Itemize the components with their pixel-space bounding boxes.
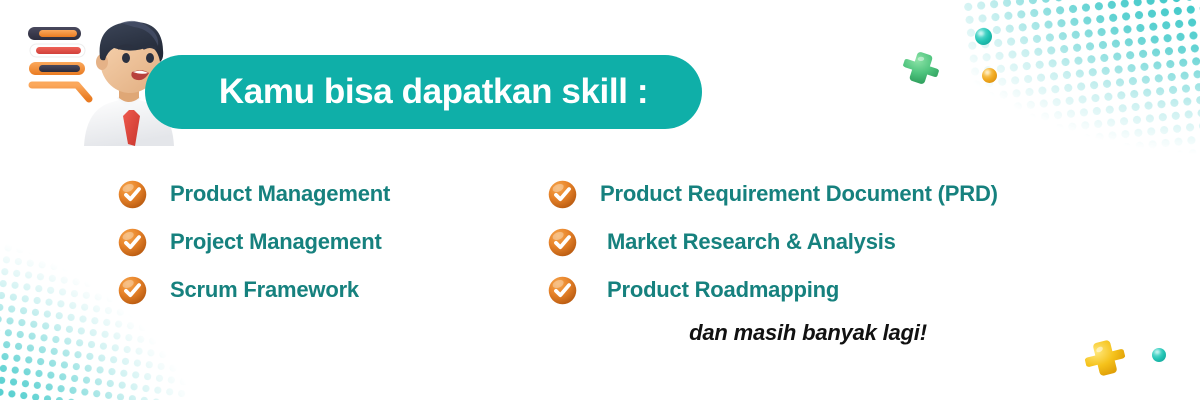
more-skills-note: dan masih banyak lagi! [548, 320, 1068, 346]
headline-banner: Kamu bisa dapatkan skill : [145, 55, 702, 129]
skill-label: Scrum Framework [170, 277, 359, 303]
list-item: Project Management [118, 218, 390, 266]
orange-check-circle-icon [118, 276, 147, 305]
halftone-dots-top-right [960, 0, 1200, 197]
skills-left-column: Product Management Project Management [118, 170, 390, 314]
skills-right-column: Product Requirement Document (PRD) Marke… [548, 170, 998, 314]
orange-sphere-icon [982, 68, 997, 83]
list-item: Product Roadmapping [548, 266, 998, 314]
list-item: Product Management [118, 170, 390, 218]
orange-check-circle-icon [548, 180, 577, 209]
skills-section: Product Management Project Management [0, 170, 1200, 370]
page-title: Kamu bisa dapatkan skill : [199, 72, 648, 112]
chat-bubble-bars [28, 27, 89, 99]
skill-label: Product Management [170, 181, 390, 207]
teal-sphere-icon [975, 28, 992, 45]
list-item: Scrum Framework [118, 266, 390, 314]
orange-check-circle-icon [548, 276, 577, 305]
green-cross-icon [898, 45, 943, 90]
skill-label: Project Management [170, 229, 382, 255]
orange-check-circle-icon [118, 228, 147, 257]
skill-label: Product Requirement Document (PRD) [600, 181, 998, 207]
list-item: Market Research & Analysis [548, 218, 998, 266]
skill-label: Market Research & Analysis [607, 229, 896, 255]
orange-check-circle-icon [548, 228, 577, 257]
orange-check-circle-icon [118, 180, 147, 209]
list-item: Product Requirement Document (PRD) [548, 170, 998, 218]
promo-banner: Kamu bisa dapatkan skill : [0, 0, 1200, 400]
skill-label: Product Roadmapping [607, 277, 839, 303]
